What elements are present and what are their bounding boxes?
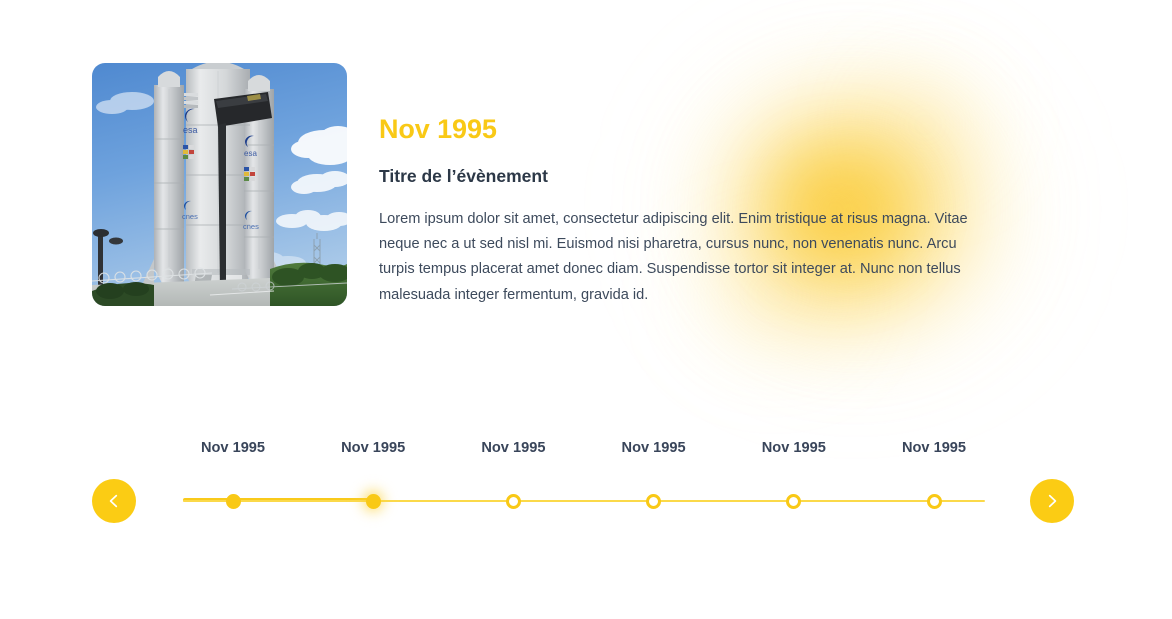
slide-stage: esa esa cnes cnes <box>0 0 1172 619</box>
slide-description: Lorem ipsum dolor sit amet, consectetur … <box>379 207 993 308</box>
svg-text:esa: esa <box>183 125 198 135</box>
slide-text-block: Nov 1995 Titre de l’évènement Lorem ipsu… <box>379 112 994 308</box>
svg-text:esa: esa <box>244 149 257 158</box>
timeline-dot[interactable] <box>786 494 801 509</box>
timeline-dot[interactable] <box>506 494 521 509</box>
timeline-label: Nov 1995 <box>201 438 265 458</box>
slide-title: Titre de l’évènement <box>379 164 994 188</box>
timeline-labels: Nov 1995Nov 1995Nov 1995Nov 1995Nov 1995… <box>183 438 985 462</box>
timeline-dot[interactable] <box>226 494 241 509</box>
timeline-label: Nov 1995 <box>902 438 966 458</box>
next-slide-button[interactable] <box>1030 479 1074 523</box>
svg-text:cnes: cnes <box>243 222 259 231</box>
timeline: Nov 1995Nov 1995Nov 1995Nov 1995Nov 1995… <box>0 438 1172 548</box>
svg-text:cnes: cnes <box>182 212 198 221</box>
timeline-dot[interactable] <box>646 494 661 509</box>
slide-image: esa esa cnes cnes <box>92 63 347 306</box>
timeline-label: Nov 1995 <box>762 438 826 458</box>
timeline-track[interactable] <box>183 500 985 502</box>
chevron-left-icon <box>105 492 123 510</box>
timeline-label: Nov 1995 <box>481 438 545 458</box>
timeline-dot[interactable] <box>927 494 942 509</box>
prev-slide-button[interactable] <box>92 479 136 523</box>
timeline-label: Nov 1995 <box>622 438 686 458</box>
timeline-dot-active[interactable] <box>366 494 381 509</box>
chevron-right-icon <box>1043 492 1061 510</box>
slide-date: Nov 1995 <box>379 112 994 146</box>
timeline-label: Nov 1995 <box>341 438 405 458</box>
